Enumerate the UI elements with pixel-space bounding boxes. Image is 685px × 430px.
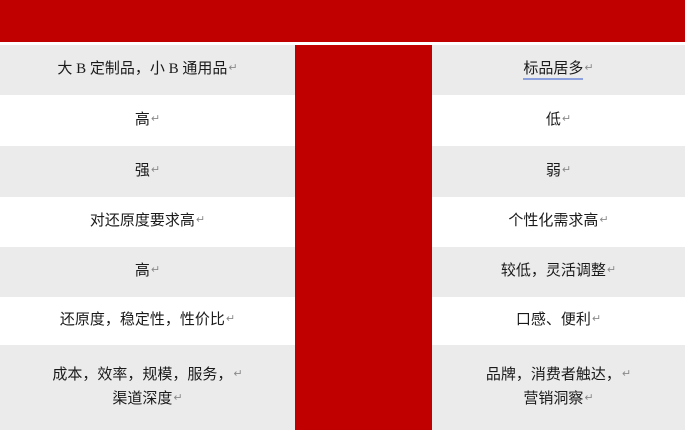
cell-text: 低	[546, 112, 561, 128]
cell-text: 营销洞察	[523, 391, 583, 407]
cell-b-side: 大 B 定制品，小 B 通用品↵	[0, 45, 295, 95]
cell-c-side: 口感、便利↵	[432, 297, 685, 345]
cell-text: 还原度，稳定性，性价比	[60, 312, 225, 328]
cell-b-side: 强↵	[0, 146, 295, 197]
cell-text: 成本，效率，规模，服务，	[52, 367, 232, 383]
cell-text: 品牌，消费者触达，	[486, 367, 621, 383]
cell-text: 高	[135, 263, 150, 279]
comparison-table: B 端↵ VS↵ C 端↵ 大 B 定制品，小 B 通用品↵ 定制化程度↵ 标品…	[0, 0, 685, 430]
cell-c-side: 较低，灵活调整↵	[432, 247, 685, 297]
paragraph-mark-icon: ↵	[607, 263, 616, 276]
paragraph-mark-icon: ↵	[599, 213, 608, 226]
paragraph-mark-icon: ↵	[151, 112, 160, 125]
paragraph-mark-icon: ↵	[584, 391, 593, 404]
cell-c-side: 品牌，消费者触达，↵ 营销洞察↵	[432, 345, 685, 430]
cell-text: 大 B 定制品，小 B 通用品	[57, 61, 227, 77]
cell-text: 对还原度要求高	[90, 213, 195, 229]
cell-text: 个性化需求高	[508, 213, 598, 229]
cell-text: 口感、便利	[516, 312, 591, 328]
cell-c-side: 个性化需求高↵	[432, 197, 685, 247]
cell-text: 渠道深度	[112, 391, 172, 407]
cell-text: 高	[135, 112, 150, 128]
cell-text: 标品居多	[523, 61, 583, 80]
paragraph-mark-icon: ↵	[233, 367, 242, 380]
cell-b-side: 高↵	[0, 95, 295, 146]
cell-c-side: 低↵	[432, 95, 685, 146]
paragraph-mark-icon: ↵	[173, 391, 182, 404]
paragraph-mark-icon: ↵	[196, 213, 205, 226]
center-column-highlight	[295, 45, 432, 430]
cell-b-side: 对还原度要求高↵	[0, 197, 295, 247]
paragraph-mark-icon: ↵	[584, 61, 593, 74]
paragraph-mark-icon: ↵	[592, 312, 601, 325]
paragraph-mark-icon: ↵	[151, 163, 160, 176]
cell-c-side: 标品居多↵	[432, 45, 685, 95]
cell-c-side: 弱↵	[432, 146, 685, 197]
paragraph-mark-icon: ↵	[228, 61, 237, 74]
paragraph-mark-icon: ↵	[226, 312, 235, 325]
cell-b-side: 高↵	[0, 247, 295, 297]
cell-text: 较低，灵活调整	[501, 263, 606, 279]
paragraph-mark-icon: ↵	[562, 112, 571, 125]
paragraph-mark-icon: ↵	[562, 163, 571, 176]
paragraph-mark-icon: ↵	[622, 367, 631, 380]
table-header-row	[0, 0, 685, 42]
cell-text: 弱	[546, 163, 561, 179]
cell-text: 强	[135, 163, 150, 179]
cell-b-side: 成本，效率，规模，服务，↵ 渠道深度↵	[0, 345, 295, 430]
paragraph-mark-icon: ↵	[151, 263, 160, 276]
cell-b-side: 还原度，稳定性，性价比↵	[0, 297, 295, 345]
